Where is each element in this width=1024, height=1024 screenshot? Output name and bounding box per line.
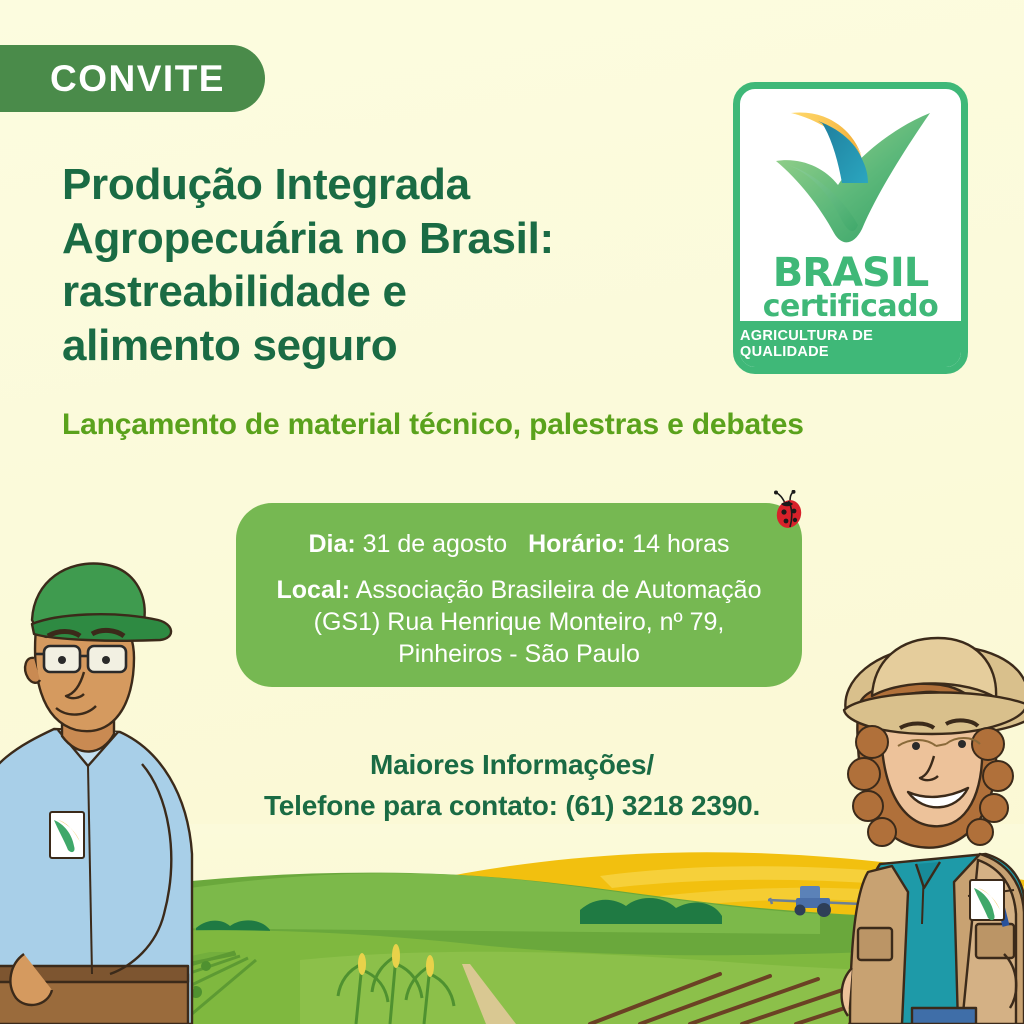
title-line-3: rastreabilidade e — [62, 265, 682, 319]
day-label: Dia: — [308, 530, 355, 558]
logo-certified-text: certificado — [740, 292, 961, 322]
time-value: 14 horas — [632, 530, 729, 558]
brasil-certificado-logo: BRASIL certificado AGRICULTURA DE QUALID… — [733, 82, 968, 374]
title-line-2: Agropecuária no Brasil: — [62, 212, 682, 266]
convite-badge-label: CONVITE — [50, 58, 225, 100]
event-datetime-line: Dia: 31 de agosto Horário: 14 horas — [266, 529, 772, 560]
event-location-line: Local: Associação Brasileira de Automaçã… — [266, 574, 772, 670]
time-label: Horário: — [528, 530, 625, 558]
green-check-sail-icon — [758, 99, 943, 249]
male-farmer-illustration — [0, 554, 207, 1024]
place-value: Associação Brasileira de Automação (GS1)… — [314, 576, 762, 668]
page-title: Produção Integrada Agropecuária no Brasi… — [62, 158, 682, 373]
day-value: 31 de agosto — [363, 530, 508, 558]
place-label: Local: — [277, 576, 351, 604]
logo-tagline-band: AGRICULTURA DE QUALIDADE — [740, 321, 961, 367]
subtitle: Lançamento de material técnico, palestra… — [62, 408, 992, 442]
invitation-poster: CONVITE Produção Integrada Agropecuária … — [0, 0, 1024, 1024]
title-line-4: alimento seguro — [62, 319, 682, 373]
logo-tagline-text: AGRICULTURA DE QUALIDADE — [740, 328, 961, 360]
event-details-box: Dia: 31 de agosto Horário: 14 horas Loca… — [236, 503, 802, 687]
female-farmer-illustration — [828, 624, 1024, 1024]
ladybug-icon — [772, 490, 806, 530]
convite-badge: CONVITE — [0, 45, 265, 112]
logo-brand-text: BRASIL — [740, 254, 961, 292]
title-line-1: Produção Integrada — [62, 158, 682, 212]
